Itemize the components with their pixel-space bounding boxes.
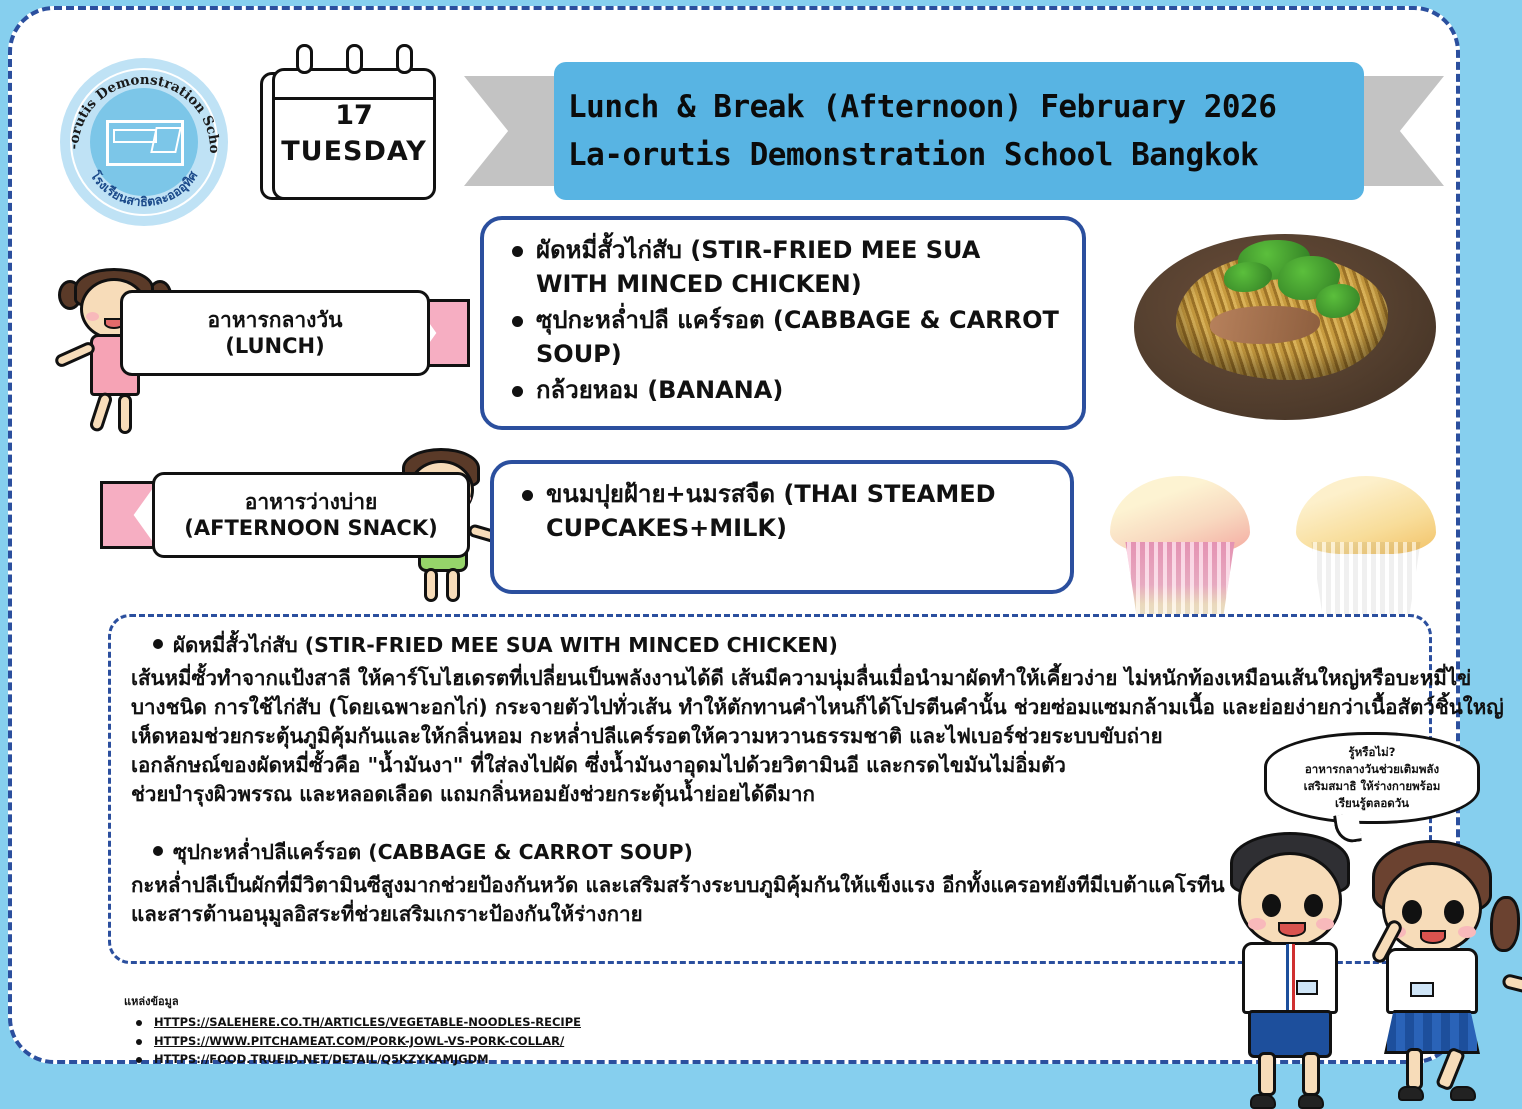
description-line: ช่วยบำรุงผิวพรรณ และหลอดเลือด แถมกลิ่นหอ…	[131, 780, 1409, 809]
source-link[interactable]: HTTPS://SALEHERE.CO.TH/ARTICLES/VEGETABL…	[154, 1015, 581, 1029]
bubble-line: รู้หรือไม่?	[1349, 744, 1396, 761]
calendar-day-number: 17	[272, 100, 436, 131]
description-line: เห็ดหอมช่วยกระตุ้นภูมิคุ้มกันและให้กลิ่น…	[131, 722, 1409, 751]
lunch-label-plate: อาหารกลางวัน (LUNCH)	[120, 290, 430, 376]
uniform-blouse	[1386, 948, 1478, 1014]
calendar-weekday: TUESDAY	[272, 136, 436, 167]
logo-thai-name: โรงเรียนสาธิตละอออุทิศ	[87, 167, 201, 209]
name-badge	[1410, 982, 1434, 997]
shoe-left	[1250, 1094, 1276, 1109]
ponytail-icon	[1490, 896, 1520, 952]
school-logo: La-orutis Demonstration School โรงเรียนส…	[60, 58, 228, 226]
uniform-shorts	[1248, 1010, 1332, 1058]
list-item[interactable]: HTTPS://FOOD.TRUEID.NET/DETAIL/Q5KZYKAMJ…	[124, 1050, 581, 1069]
mouth	[1420, 930, 1446, 944]
snack-label-ribbon: อาหารว่างบ่าย (AFTERNOON SNACK)	[100, 472, 470, 558]
cheek-left	[86, 312, 99, 321]
source-link[interactable]: HTTPS://WWW.PITCHAMEAT.COM/PORK-JOWL-VS-…	[154, 1034, 564, 1048]
logo-english-name: La-orutis Demonstration School	[60, 58, 222, 154]
svg-text:โรงเรียนสาธิตละอออุทิศ: โรงเรียนสาธิตละอออุทิศ	[87, 167, 201, 209]
list-item[interactable]: HTTPS://WWW.PITCHAMEAT.COM/PORK-JOWL-VS-…	[124, 1032, 581, 1051]
name-badge	[1296, 980, 1318, 995]
description-line: เอกลักษณ์ของผัดหมี่ซั้วคือ "น้ำมันงา" ที…	[131, 751, 1409, 780]
bubble-line: เสริมสมาธิ ให้ร่างกายพร้อม	[1304, 778, 1441, 795]
mouth	[1278, 922, 1306, 937]
snack-label-en: (AFTERNOON SNACK)	[184, 515, 437, 541]
svg-text:La-orutis Demonstration School: La-orutis Demonstration School	[60, 58, 222, 154]
leg-right	[118, 394, 132, 434]
girl-student-character	[1350, 830, 1522, 1080]
leg-left	[1258, 1052, 1276, 1096]
banner-title-box: Lunch & Break (Afternoon) February 2026 …	[554, 62, 1364, 200]
description-line: บางชนิด การใช้ไก่สับ (โดยเฉพาะอกไก่) กระ…	[131, 693, 1409, 722]
bubble-line: เรียนรู้ตลอดวัน	[1335, 795, 1409, 812]
list-item: กล้วยหอม (BANANA)	[502, 374, 1060, 408]
list-item[interactable]: HTTPS://SALEHERE.CO.TH/ARTICLES/VEGETABL…	[124, 1013, 581, 1032]
ribbon-tail-pink	[100, 481, 158, 549]
description-heading: ผัดหมี่สั้วไก่สับ (STIR-FRIED MEE SUA WI…	[131, 629, 1409, 662]
banner-title-line2: La-orutis Demonstration School Bangkok	[568, 131, 1350, 179]
leg-right	[1302, 1052, 1320, 1096]
did-you-know-speech-bubble: รู้หรือไม่? อาหารกลางวันช่วยเติมพลัง เสร…	[1264, 732, 1480, 824]
calendar-ring-2	[346, 44, 363, 74]
leg-left	[88, 391, 114, 433]
cupcake-pink	[1104, 476, 1256, 628]
eye-right	[1304, 894, 1323, 917]
sources-list: HTTPS://SALEHERE.CO.TH/ARTICLES/VEGETABL…	[124, 1013, 581, 1069]
description-line: เส้นหมี่ซั้วทำจากแป้งสาลี ให้คาร์โบไฮเดร…	[131, 664, 1409, 693]
lunch-label-en: (LUNCH)	[225, 333, 324, 359]
list-item: ผัดหมี่สั้วไก่สับ (STIR-FRIED MEE SUA WI…	[502, 234, 1060, 301]
calendar-icon: 17 TUESDAY	[260, 56, 438, 206]
snack-menu-list: ขนมปุยฝ้าย+นมรสจืด (THAI STEAMED CUPCAKE…	[512, 478, 1048, 545]
leg-right	[446, 568, 460, 602]
bubble-line: อาหารกลางวันช่วยเติมพลัง	[1305, 761, 1439, 778]
calendar-ring-1	[296, 44, 313, 74]
shoe-right	[1298, 1094, 1324, 1109]
cheek-right	[1316, 918, 1334, 930]
arm-right	[1501, 973, 1522, 999]
sources-section: แหล่งข้อมูล HTTPS://SALEHERE.CO.TH/ARTIC…	[124, 992, 581, 1069]
eye-left	[1262, 894, 1281, 917]
lunch-label-ribbon: อาหารกลางวัน (LUNCH)	[120, 290, 470, 376]
list-item: ขนมปุยฝ้าย+นมรสจืด (THAI STEAMED CUPCAKE…	[512, 478, 1048, 545]
uniform-skirt	[1384, 1010, 1480, 1054]
header-banner: Lunch & Break (Afternoon) February 2026 …	[464, 62, 1470, 202]
calendar-ring-3	[396, 44, 413, 74]
main-card: La-orutis Demonstration School โรงเรียนส…	[8, 6, 1460, 1064]
shirt-placket	[1286, 944, 1295, 1012]
stir-fried-mee-sua-photo	[1120, 222, 1450, 432]
leg-left	[1406, 1048, 1423, 1090]
cupcake-orange	[1290, 476, 1442, 628]
source-link[interactable]: HTTPS://FOOD.TRUEID.NET/DETAIL/Q5KZYKAMJ…	[154, 1052, 489, 1066]
leg-left	[424, 568, 438, 602]
lunch-menu-box: ผัดหมี่สั้วไก่สับ (STIR-FRIED MEE SUA WI…	[480, 216, 1086, 430]
shoe-left	[1398, 1086, 1424, 1101]
cupcake-liner	[1118, 542, 1242, 624]
list-item: ซุปกะหล่ำปลี แคร์รอต (CABBAGE & CARROT S…	[502, 304, 1060, 371]
lunch-menu-list: ผัดหมี่สั้วไก่สับ (STIR-FRIED MEE SUA WI…	[502, 234, 1060, 408]
eye-right	[1444, 900, 1464, 924]
cheek-left	[1248, 918, 1266, 930]
sources-title: แหล่งข้อมูล	[124, 992, 581, 1010]
logo-arc-text: La-orutis Demonstration School โรงเรียนส…	[60, 58, 228, 226]
snack-label-thai: อาหารว่างบ่าย	[245, 489, 378, 515]
shoe-right	[1450, 1086, 1476, 1101]
banner-title-line1: Lunch & Break (Afternoon) February 2026	[568, 83, 1350, 131]
eye-left	[1402, 900, 1422, 924]
cupcake-liner	[1304, 542, 1428, 624]
lunch-label-thai: อาหารกลางวัน	[207, 307, 342, 333]
thai-steamed-cupcakes-photo	[1104, 468, 1454, 628]
snack-menu-box: ขนมปุยฝ้าย+นมรสจืด (THAI STEAMED CUPCAKE…	[490, 460, 1074, 594]
snack-label-plate: อาหารว่างบ่าย (AFTERNOON SNACK)	[152, 472, 470, 558]
cheek-right	[1458, 926, 1476, 938]
